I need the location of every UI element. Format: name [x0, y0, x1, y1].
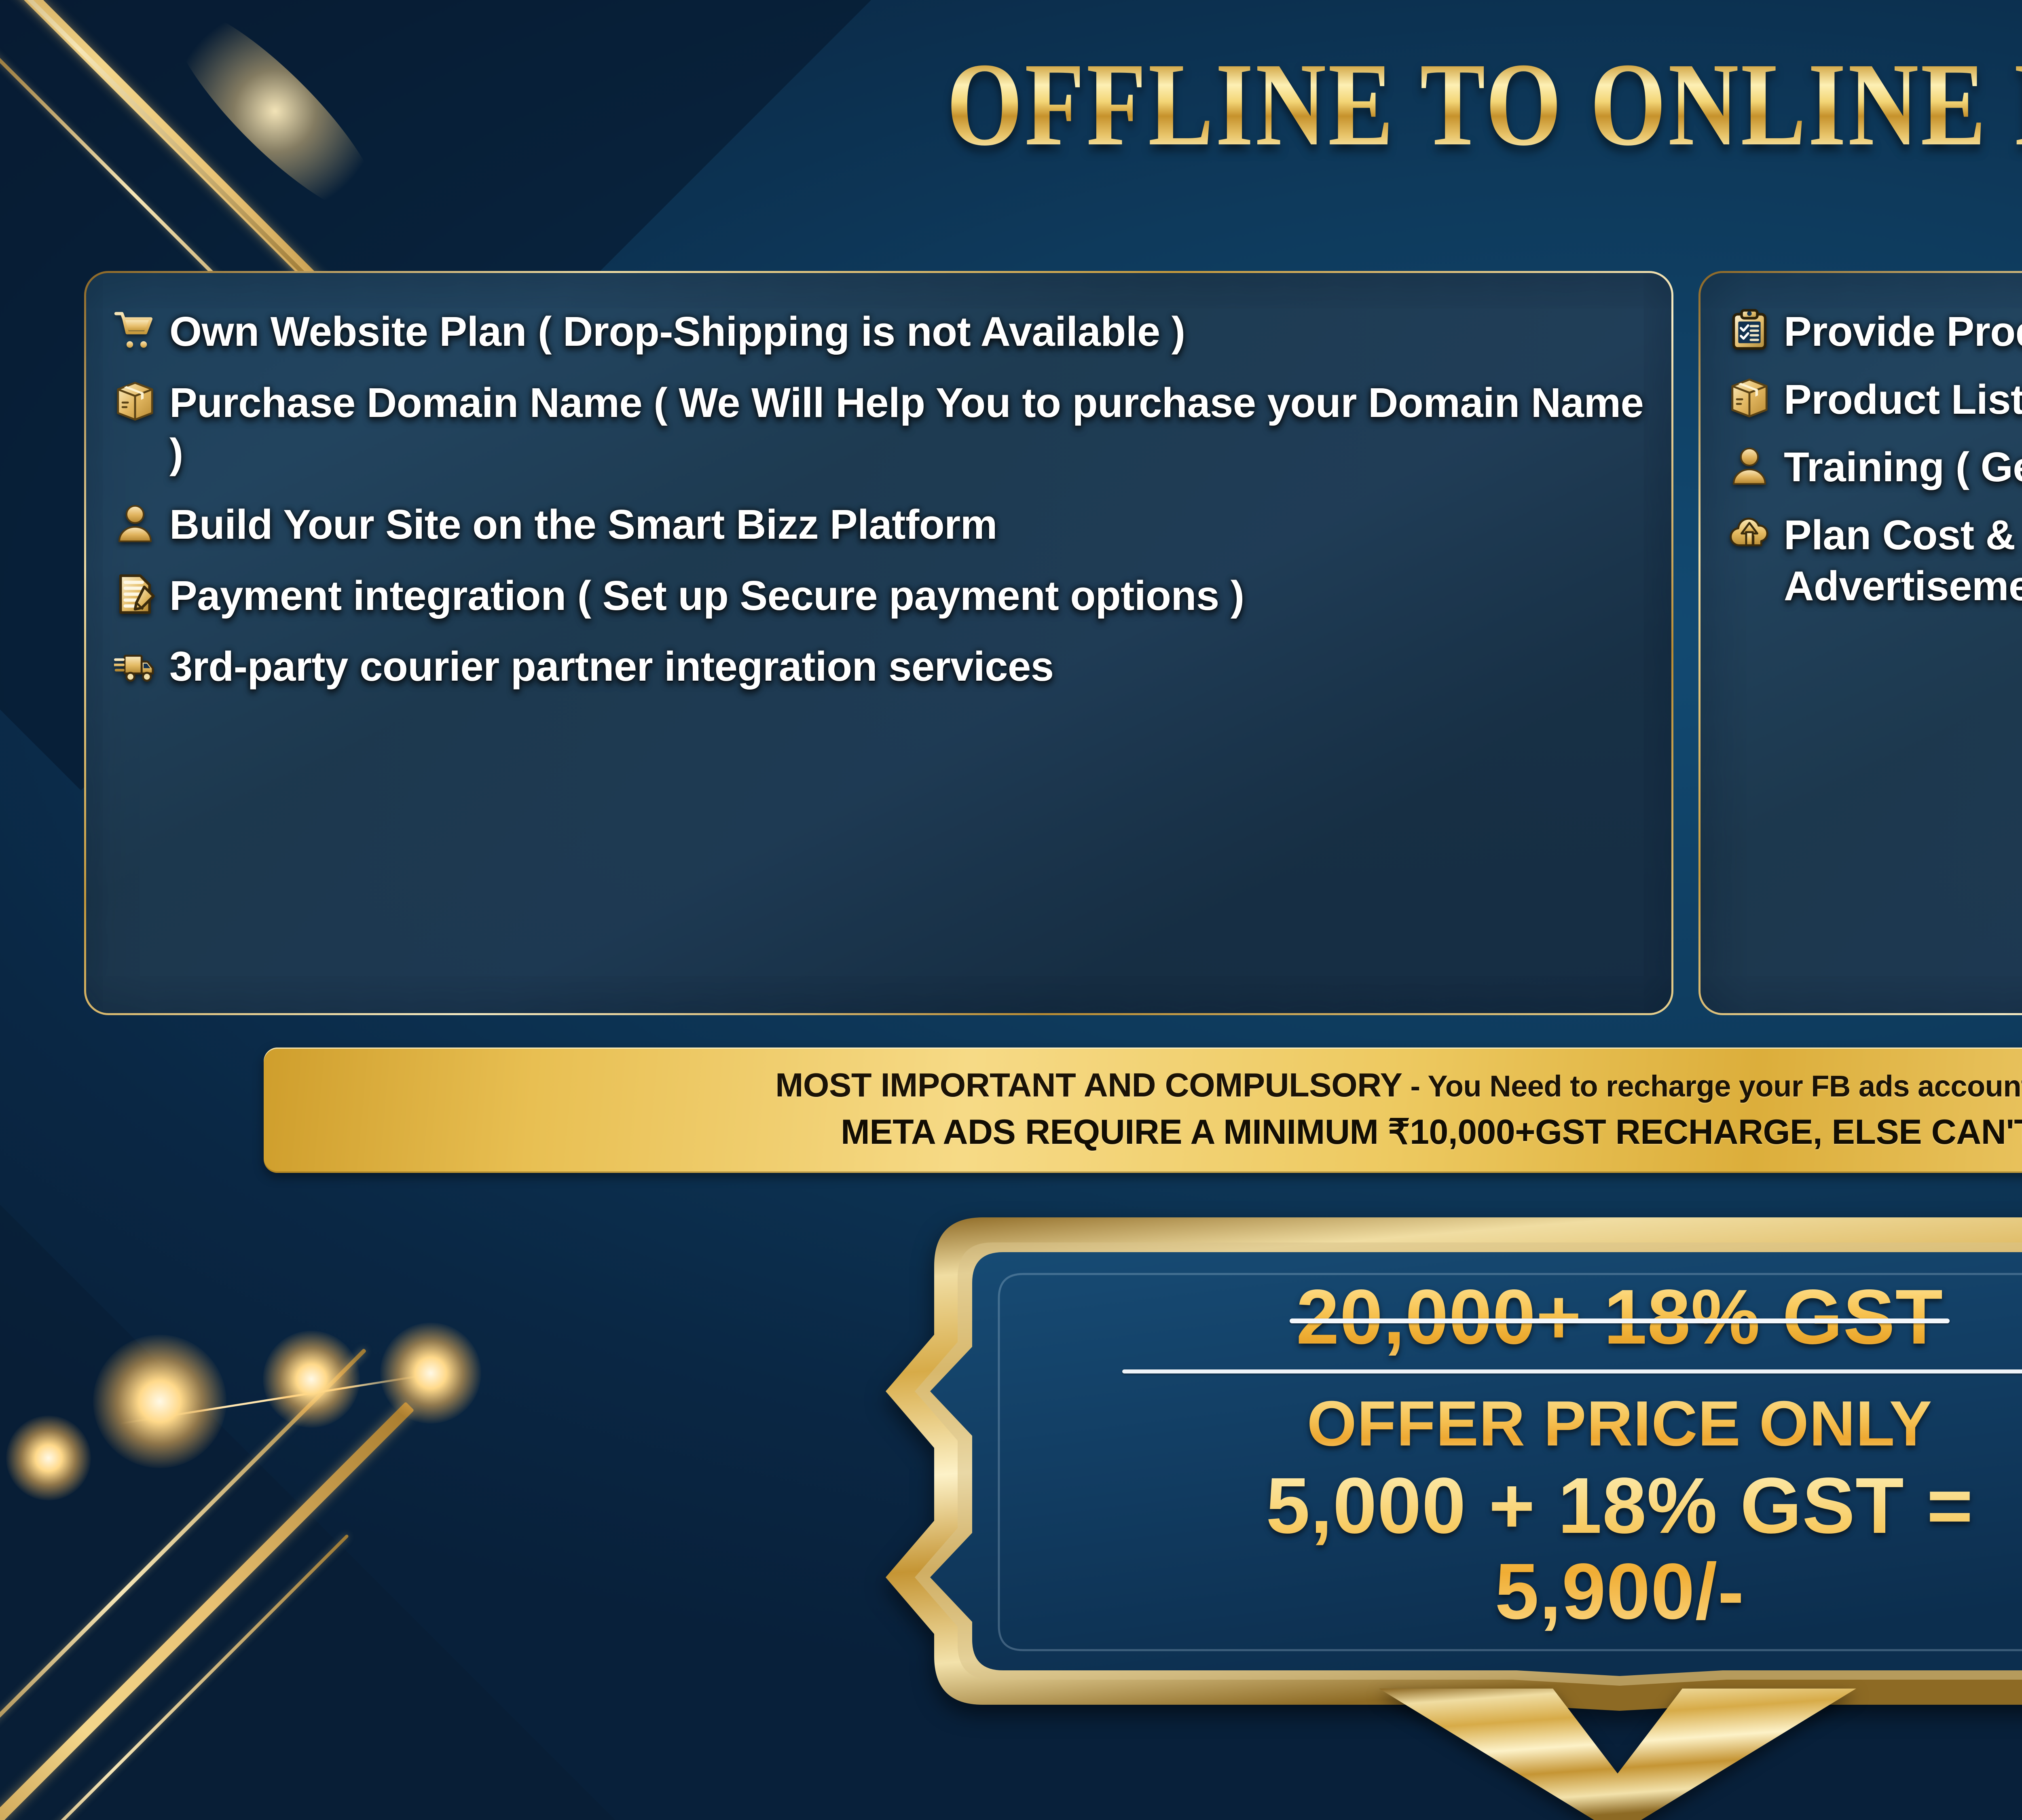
list-item: Purchase Domain Name ( We Will Help You … — [111, 376, 1647, 479]
shopping-cart-icon — [111, 306, 159, 354]
new-price: 5,000 + 18% GST = 5,900/- — [1266, 1463, 1973, 1634]
new-price-line-1: 5,000 + 18% GST = — [1266, 1463, 1973, 1549]
badge-pointer-tail — [1379, 1689, 1856, 1820]
list-item-label: Provide Product Info ( Client provides p… — [1784, 305, 2022, 357]
list-item: 3rd-party courier partner integration se… — [111, 639, 1647, 692]
list-item: Own Website Plan ( Drop-Shipping is not … — [111, 305, 1647, 357]
list-item: Payment integration ( Set up Secure paym… — [111, 569, 1647, 621]
package-box-icon — [1726, 374, 1773, 422]
package-box-icon — [111, 377, 159, 425]
important-notice-banner: MOST IMPORTANT AND COMPULSORY - You Need… — [264, 1048, 2022, 1173]
banner-line-1: MOST IMPORTANT AND COMPULSORY - You Need… — [775, 1066, 2022, 1105]
banner-line-2: META ADS REQUIRE A MINIMUM ₹10,000+GST R… — [841, 1112, 2022, 1152]
left-feature-card: Own Website Plan ( Drop-Shipping is not … — [84, 271, 1673, 1015]
list-item: Plan Cost & Ads ( 5,000+ tax ( Plan Fee … — [1726, 508, 2022, 611]
new-price-line-2: 5,900/- — [1266, 1549, 1973, 1634]
clipboard-checklist-icon — [1726, 306, 1773, 354]
list-item-label: Product Listing ( We will List 20 produc… — [1784, 372, 2022, 425]
list-item-label: 3rd-party courier partner integration se… — [169, 639, 1054, 692]
cloud-upload-icon — [1726, 510, 1773, 557]
list-item-label: Plan Cost & Ads ( 5,000+ tax ( Plan Fee … — [1784, 508, 2022, 611]
right-feature-card: Provide Product Info ( Client provides p… — [1698, 271, 2022, 1015]
user-person-icon — [111, 499, 159, 547]
price-badge-content: 20,000+ 18% GST OFFER PRICE ONLY 5,000 +… — [999, 1260, 2022, 1664]
list-item: Product Listing ( We will List 20 produc… — [1726, 372, 2022, 425]
banner-line-1-rest: - You Need to recharge your FB ads accou… — [1402, 1069, 2022, 1103]
list-item: Build Your Site on the Smart Bizz Platfo… — [111, 497, 1647, 550]
price-badge: 20,000+ 18% GST OFFER PRICE ONLY 5,000 +… — [882, 1213, 2022, 1820]
old-price: 20,000+ 18% GST — [1296, 1272, 1943, 1361]
delivery-truck-icon — [111, 641, 159, 689]
list-item-label: Training ( Get training for adding more … — [1784, 440, 2022, 493]
user-person-icon — [1726, 442, 1773, 489]
list-item-label: Purchase Domain Name ( We Will Help You … — [169, 376, 1647, 479]
old-price-wrapper: 20,000+ 18% GST — [1296, 1272, 1943, 1361]
strikethrough-line — [1290, 1318, 1950, 1323]
list-item-label: Payment integration ( Set up Secure paym… — [169, 569, 1244, 621]
feature-cards: Own Website Plan ( Drop-Shipping is not … — [0, 271, 2022, 1015]
price-divider — [1122, 1369, 2022, 1373]
list-item-label: Own Website Plan ( Drop-Shipping is not … — [169, 305, 1185, 357]
list-item: Training ( Get training for adding more … — [1726, 440, 2022, 493]
banner-line-1-lead: MOST IMPORTANT AND COMPULSORY — [775, 1066, 1402, 1104]
list-item-label: Build Your Site on the Smart Bizz Platfo… — [169, 497, 997, 550]
offer-price-label: OFFER PRICE ONLY — [1307, 1387, 1932, 1460]
list-item: Provide Product Info ( Client provides p… — [1726, 305, 2022, 357]
page-title: OFFLINE TO ONLINE PLAN — [291, 44, 2022, 164]
document-edit-icon — [111, 570, 159, 618]
